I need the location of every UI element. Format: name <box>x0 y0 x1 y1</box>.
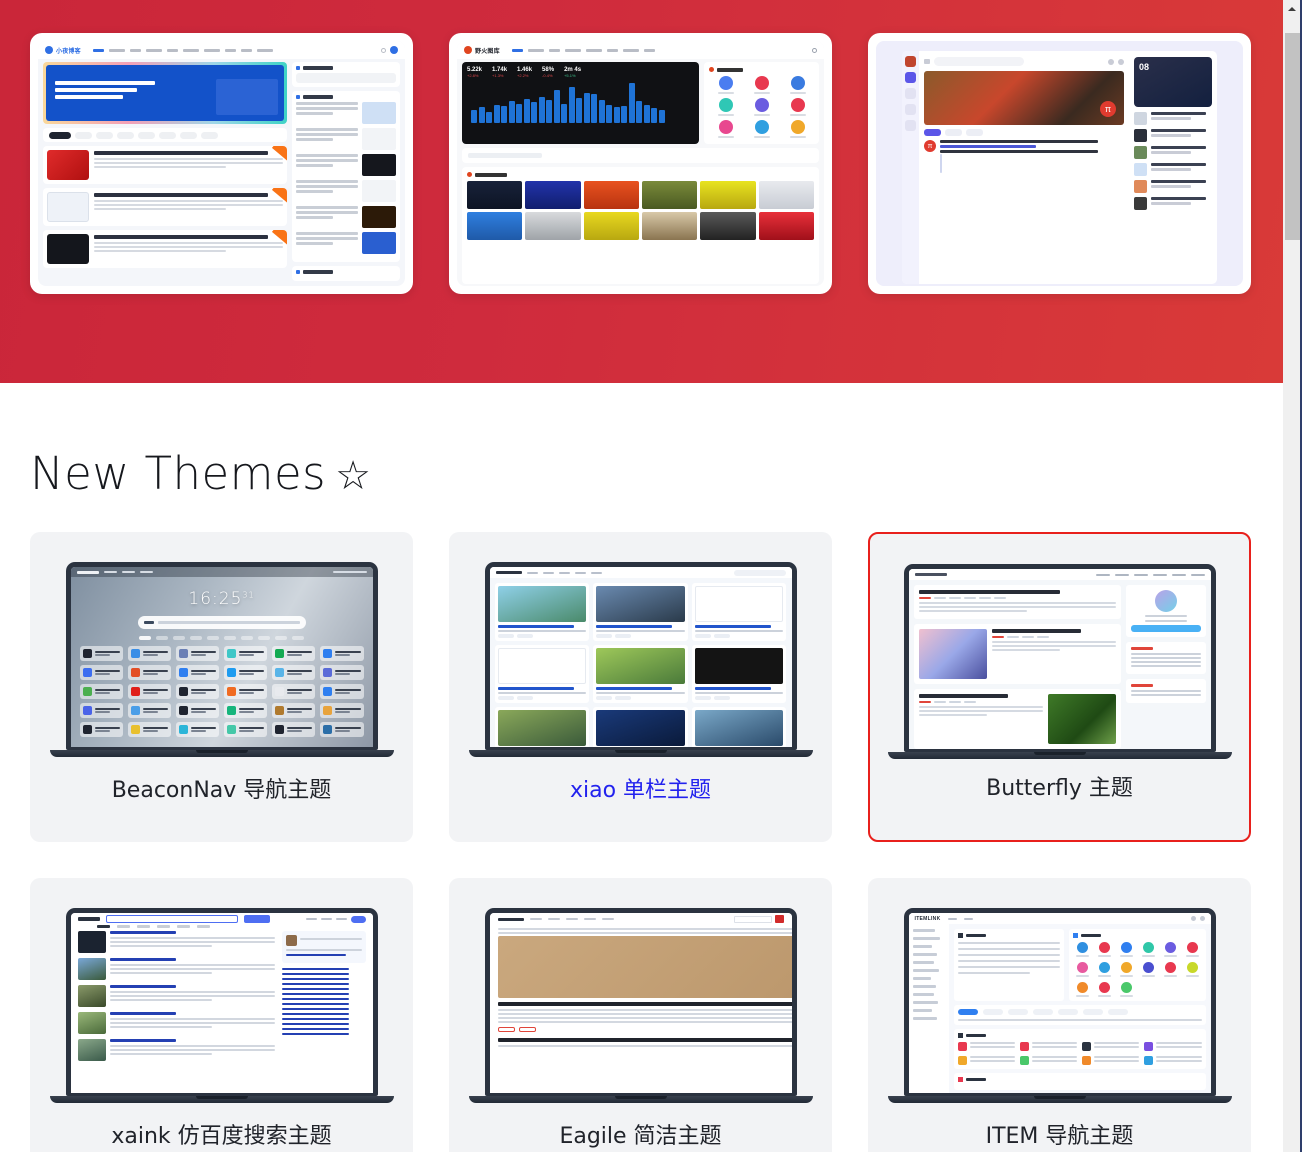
laptop-mockup: Linux <box>485 908 797 1103</box>
search-input[interactable] <box>934 57 1024 66</box>
vertical-scrollbar[interactable] <box>1283 0 1301 1152</box>
dashboard-bar-chart <box>467 81 694 123</box>
preview-latest-posts <box>292 91 400 262</box>
preview-xaink <box>71 913 373 1093</box>
laptop-base <box>888 1096 1232 1103</box>
category-icon-grid <box>709 76 814 138</box>
preview-search-panel <box>954 1005 1206 1025</box>
preview-sidebar-rail <box>902 51 919 284</box>
preview-tool-nav <box>1069 929 1205 1001</box>
site-logo-icon: 小夜博客 <box>45 46 81 55</box>
preview-hot-sites <box>954 929 1065 1001</box>
preview-profile-button <box>1131 625 1201 632</box>
laptop-mockup: 16:2531 <box>66 562 378 757</box>
preview-resource-grid <box>462 167 819 284</box>
theme-card-item[interactable]: ITEMLINK <box>868 878 1251 1152</box>
page-title-text: New Themes <box>30 447 326 500</box>
stat-delta: +2.2% <box>517 73 532 78</box>
hero-card-xiaoye-blog[interactable]: 小夜博客 <box>30 33 413 294</box>
dashboard-stats: 5.22k+2.8% 1.74k+1.3% 1.46k+2.2% 58%-0.4… <box>467 67 694 78</box>
preview-friend-links <box>954 1073 1206 1090</box>
preview-social-forum: π π 08 <box>876 41 1243 286</box>
laptop-mockup <box>485 562 797 757</box>
theme-card-eagile[interactable]: Linux <box>449 878 832 1152</box>
stat-delta: +2.8% <box>467 73 482 78</box>
theme-card-xaink[interactable]: xaink 仿百度搜索主题 <box>30 878 413 1152</box>
avatar: π <box>924 140 936 152</box>
preview-nav-right <box>381 46 398 54</box>
page-viewport: 小夜博客 <box>0 0 1283 1152</box>
preview-post-item <box>43 146 287 184</box>
clock-time: 16:25 <box>188 589 242 609</box>
preview-post-item <box>43 230 287 268</box>
laptop-mockup <box>66 908 378 1103</box>
preview-nav <box>512 49 655 52</box>
clock-seconds: 31 <box>242 590 254 599</box>
laptop-base <box>469 1096 813 1103</box>
laptop-base <box>888 752 1232 759</box>
hero-card-row: 小夜博客 <box>30 33 1251 294</box>
theme-title-xaink[interactable]: xaink 仿百度搜索主题 <box>30 1118 413 1150</box>
preview-xiao <box>490 567 792 747</box>
preview-feed: π π <box>919 51 1129 284</box>
star-icon: ☆ <box>335 453 371 499</box>
preview-xiaoye-blog: 小夜博客 <box>38 41 405 286</box>
preview-eagile: Linux <box>490 913 792 1093</box>
preview-aside <box>282 931 366 1066</box>
preview-announcement <box>1126 642 1206 674</box>
preview-body: 5.22k+2.8% 1.74k+1.3% 1.46k+2.2% 58%-0.4… <box>462 62 819 284</box>
pi-logo-icon: π <box>1100 101 1116 117</box>
theme-title-xiao[interactable]: xiao 单栏主题 <box>449 772 832 804</box>
preview-topbar: 野火图库 <box>457 41 824 59</box>
preview-sidebar <box>909 924 949 1095</box>
preview-main-column <box>43 62 287 284</box>
preview-search-box <box>292 62 400 87</box>
hero-banner: 小夜博客 <box>0 0 1283 383</box>
preview-post-item <box>43 188 287 226</box>
preview-feature-card: 08 <box>1134 57 1212 107</box>
hero-card-design-resource[interactable]: 野火图库 <box>449 33 832 294</box>
preview-tag-row <box>43 128 287 142</box>
theme-grid: 16:2531 <box>30 532 1270 1152</box>
page-title: New Themes☆ <box>30 447 371 500</box>
preview-search-results <box>78 931 275 1066</box>
scrollbar-thumb[interactable] <box>1285 33 1300 240</box>
preview-butterfly <box>909 569 1211 749</box>
preview-design-resource: 野火图库 <box>457 41 824 286</box>
hero-card-social-forum[interactable]: π π 08 <box>868 33 1251 294</box>
preview-hero-image: Linux <box>498 936 797 998</box>
laptop-base <box>50 750 394 757</box>
preview-post: π <box>924 140 1124 173</box>
preview-topbar: 小夜博客 <box>38 41 405 59</box>
theme-title-butterfly[interactable]: Butterfly 主题 <box>870 770 1249 802</box>
preview-app-grid <box>71 640 373 737</box>
preview-latest-posts <box>1126 679 1206 703</box>
laptop-base <box>469 750 813 757</box>
theme-card-beaconnav[interactable]: 16:2531 <box>30 532 413 842</box>
laptop-base <box>50 1096 394 1103</box>
preview-sidebar <box>292 62 400 284</box>
preview-profile-card <box>1126 585 1206 637</box>
stat-delta: -0.4% <box>542 73 554 78</box>
site-title: 小夜博客 <box>56 46 81 55</box>
stat-delta: +5.1% <box>564 73 581 78</box>
preview-item: ITEMLINK <box>909 913 1211 1093</box>
preview-search-bar <box>138 616 306 629</box>
scroll-up-arrow-icon <box>1288 7 1296 11</box>
preview-article <box>914 689 1121 749</box>
theme-title-item[interactable]: ITEM 导航主题 <box>868 1118 1251 1150</box>
preview-hero-banner <box>43 62 287 124</box>
preview-nav <box>93 49 273 52</box>
preview-main: Linux <box>498 928 797 1049</box>
preview-search-row <box>924 56 1124 67</box>
site-title: ITEMLINK <box>915 916 941 922</box>
stat-delta: +1.3% <box>492 73 507 78</box>
preview-recommend-panel <box>954 1029 1206 1069</box>
preview-category-panel <box>704 62 819 144</box>
scroll-up-button[interactable] <box>1283 0 1301 17</box>
site-logo-icon: 野火图库 <box>464 46 500 55</box>
preview-article <box>914 585 1121 619</box>
preview-article <box>914 624 1121 684</box>
theme-card-butterfly[interactable]: Butterfly 主题 <box>868 532 1251 842</box>
preview-beaconnav: 16:2531 <box>71 567 373 747</box>
preview-body <box>43 62 400 284</box>
theme-card-xiao[interactable]: xiao 单栏主题 <box>449 532 832 842</box>
theme-title-eagile[interactable]: Eagile 简洁主题 <box>449 1118 832 1150</box>
preview-search-field <box>462 148 819 163</box>
search-icon <box>812 48 817 53</box>
preview-clock: 16:2531 <box>71 589 373 609</box>
page-root: 小夜博客 <box>0 0 1302 1152</box>
preview-dashboard: 5.22k+2.8% 1.74k+1.3% 1.46k+2.2% 58%-0.4… <box>462 62 699 144</box>
laptop-mockup: ITEMLINK <box>904 908 1216 1103</box>
preview-tabs <box>924 129 1124 136</box>
theme-title-beaconnav[interactable]: BeaconNav 导航主题 <box>30 772 413 804</box>
preview-post-grid <box>490 578 792 750</box>
preview-cover-image: π <box>924 71 1124 125</box>
preview-aside: 08 <box>1129 51 1217 284</box>
laptop-mockup <box>904 564 1216 759</box>
feature-card-number: 08 <box>1139 62 1149 72</box>
preview-latest-comments <box>292 266 400 281</box>
site-title: 野火图库 <box>475 46 500 55</box>
